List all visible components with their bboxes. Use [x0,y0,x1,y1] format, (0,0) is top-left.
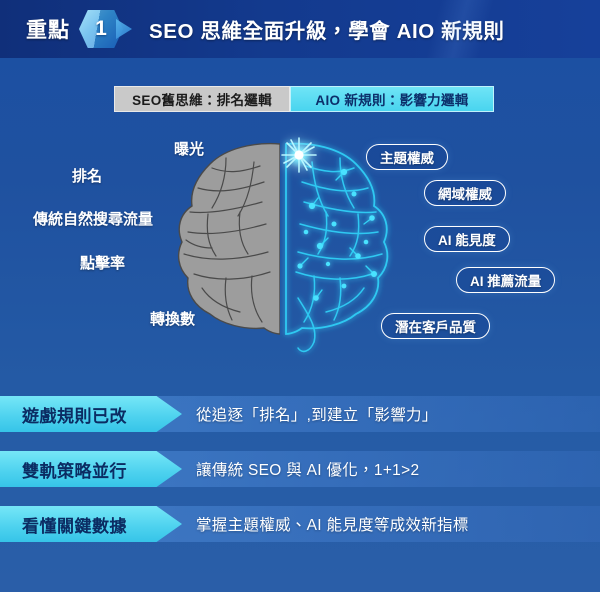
brain-right-neural-half [282,138,387,351]
brain-diagram-stage: 曝光 排名 傳統自然搜尋流量 點擊率 轉換數 [0,118,600,380]
point-number-badge: 1 [79,10,123,48]
pill-ai-visibility: AI 能見度 [424,226,510,252]
split-brain-illustration [168,128,398,364]
infographic-slide: 重點 1 SEO 思維全面升級，學會 AIO 新規則 SEO舊思維：排名邏輯 A… [0,0,600,592]
takeaway-tag-label: 遊戲規則已改 [22,402,127,427]
takeaway-description: 掌握主題權威、AI 能見度等成效新指標 [196,513,469,535]
pill-domain-authority: 網域權威 [424,180,506,206]
badge-number-label: 1 [95,17,107,41]
takeaway-tag-label: 雙軌策略並行 [22,457,127,482]
comparison-tabs: SEO舊思維：排名邏輯 AIO 新規則：影響力邏輯 [114,86,494,112]
takeaway-tag-dual-strategy: 雙軌策略並行 [0,451,182,487]
takeaway-tag-rules-changed: 遊戲規則已改 [0,396,182,432]
takeaway-row: 雙軌策略並行 讓傳統 SEO 與 AI 優化，1+1>2 [0,451,600,487]
takeaway-description: 讓傳統 SEO 與 AI 優化，1+1>2 [196,458,419,480]
pill-lead-quality: 潛在客戶品質 [381,313,490,339]
page-title: SEO 思維全面升級，學會 AIO 新規則 [149,14,504,44]
pill-ai-referral-traffic: AI 推薦流量 [456,267,555,293]
tab-aio-new-rules[interactable]: AIO 新規則：影響力邏輯 [290,86,494,112]
brain-left-grey-half [179,144,280,334]
pill-topical-authority: 主題權威 [366,144,448,170]
header-bar: 重點 1 SEO 思維全面升級，學會 AIO 新規則 [0,0,600,58]
takeaway-row: 看懂關鍵數據 掌握主題權威、AI 能見度等成效新指標 [0,506,600,542]
takeaway-tag-label: 看懂關鍵數據 [22,512,127,537]
takeaway-description: 從追逐「排名」,到建立「影響力」 [196,403,438,425]
takeaway-row: 遊戲規則已改 從追逐「排名」,到建立「影響力」 [0,396,600,432]
takeaway-list: 遊戲規則已改 從追逐「排名」,到建立「影響力」 雙軌策略並行 讓傳統 SEO 與… [0,396,600,561]
neural-flare-icon [282,138,316,172]
takeaway-tag-key-metrics: 看懂關鍵數據 [0,506,182,542]
left-label-organic-traffic: 傳統自然搜尋流量 [33,208,153,229]
tab-seo-old-thinking[interactable]: SEO舊思維：排名邏輯 [114,86,290,112]
left-label-ranking: 排名 [72,165,102,186]
left-label-ctr: 點擊率 [80,252,125,273]
badge-arrow-tail-icon [116,19,132,39]
header-kicker: 重點 [26,14,70,44]
